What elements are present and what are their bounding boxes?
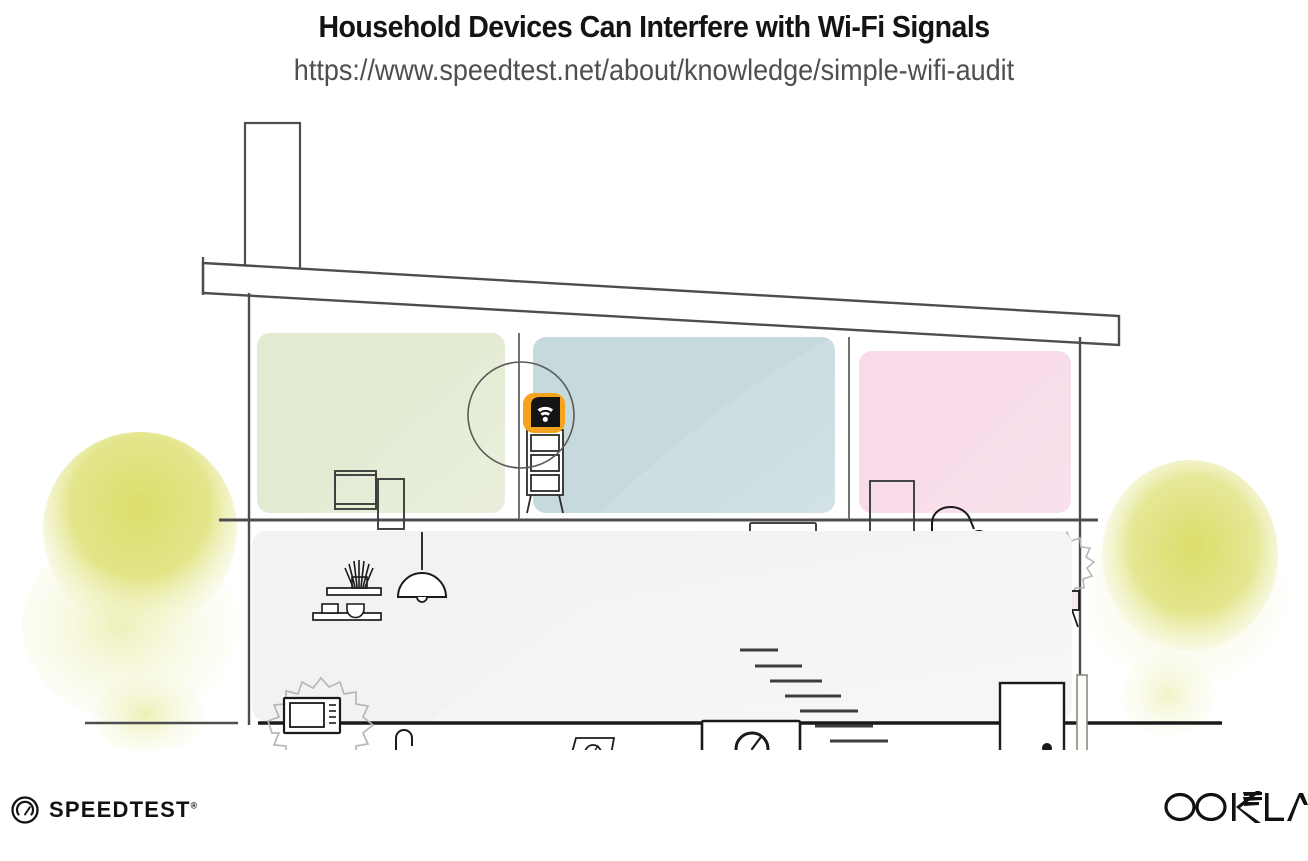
speedtest-gauge-icon: [10, 795, 40, 825]
chimney: [245, 123, 300, 275]
source-url: https://www.speedtest.net/about/knowledg…: [65, 53, 1242, 89]
front-door: [1000, 683, 1064, 750]
roof: [203, 257, 1119, 345]
foliage-right: [1083, 460, 1287, 737]
infographic-page: Household Devices Can Interfere with Wi-…: [0, 0, 1308, 861]
ookla-wordmark-mark: [1158, 787, 1308, 827]
house-illustration: SPEEDTEST: [0, 105, 1308, 750]
laptop-speedtest: SPEEDTEST: [563, 738, 617, 750]
speedtest-wordmark: SPEEDTEST®: [49, 797, 197, 823]
speedtest-wordmark-text: SPEEDTEST: [49, 797, 191, 822]
speedtest-logo: SPEEDTEST®: [10, 795, 197, 825]
footer: SPEEDTEST® OOKLA: [0, 751, 1308, 861]
wifi-router: [523, 393, 565, 433]
television-speedtest: SPEEDTEST: [702, 721, 800, 750]
microwave: [284, 698, 340, 733]
header: Household Devices Can Interfere with Wi-…: [0, 0, 1308, 89]
ookla-logo: OOKLA: [1158, 787, 1308, 827]
speedtest-trademark: ®: [191, 801, 198, 811]
sink-faucet: [396, 730, 412, 750]
page-title: Household Devices Can Interfere with Wi-…: [52, 8, 1255, 47]
ground-floor: SPEEDTEST SPEEDTEST: [252, 531, 1087, 750]
foliage-left: [22, 432, 238, 750]
window-right: [1077, 675, 1087, 750]
